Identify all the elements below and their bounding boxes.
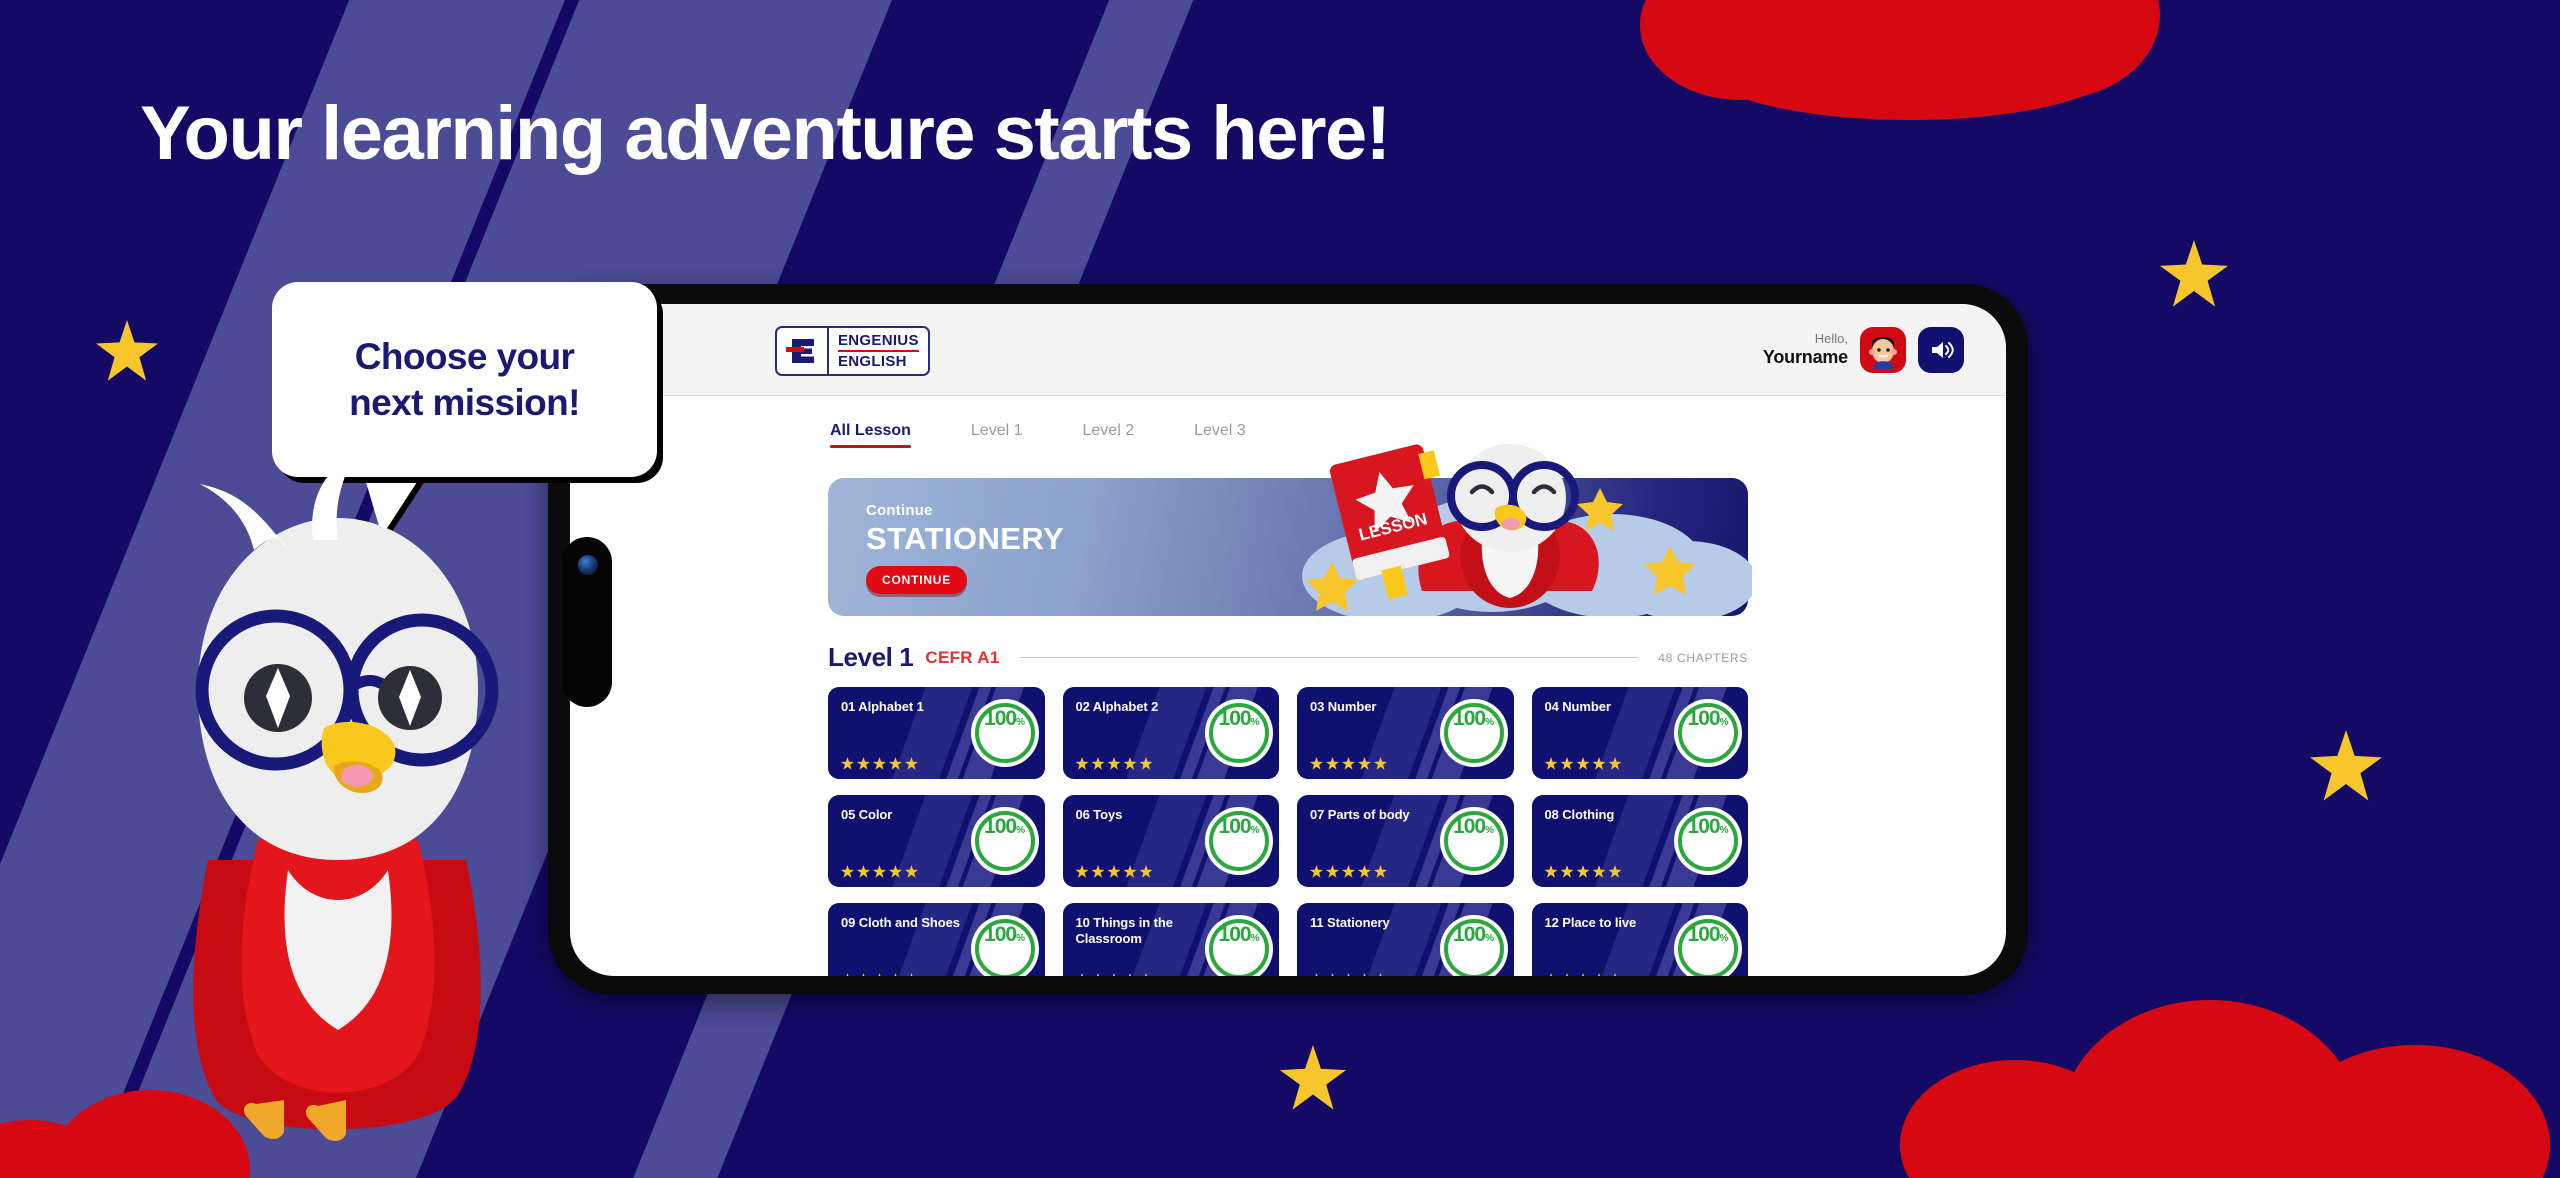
star-icon <box>1108 865 1121 878</box>
progress-percent-value: 100 <box>1219 923 1251 947</box>
percent-symbol: % <box>1016 825 1025 836</box>
chapter-card[interactable]: 05 Color100% <box>828 795 1045 887</box>
star-icon <box>857 865 870 878</box>
percent-symbol: % <box>1485 933 1494 944</box>
chapter-title: 05 Color <box>841 807 963 823</box>
chapter-star-rating <box>841 865 918 878</box>
chapter-progress-badge: 100% <box>1209 811 1269 871</box>
star-icon <box>1310 973 1323 976</box>
star-icon <box>1609 757 1622 770</box>
logo-divider <box>838 350 919 352</box>
header-user-area: Hello, Yourname <box>1763 327 1964 373</box>
star-icon <box>1326 757 1339 770</box>
tab-level-1[interactable]: Level 1 <box>971 422 1023 448</box>
level-label: Level 1 <box>828 642 913 673</box>
chapter-star-rating <box>1076 973 1153 976</box>
percent-symbol: % <box>1720 717 1729 728</box>
star-icon <box>1593 865 1606 878</box>
star-icon <box>1326 973 1339 976</box>
progress-percent-value: 100 <box>984 815 1016 839</box>
star-icon <box>1342 865 1355 878</box>
star-icon <box>1545 973 1558 976</box>
chapter-progress-badge: 100% <box>1444 811 1504 871</box>
star-icon <box>1593 973 1606 976</box>
banner-kicker: Continue <box>866 502 1064 519</box>
star-icon <box>1310 865 1323 878</box>
star-icon <box>857 757 870 770</box>
star-icon <box>1374 757 1387 770</box>
speech-bubble-text: Choose yournext mission! <box>349 334 580 424</box>
chapter-progress-badge: 100% <box>975 919 1035 976</box>
star-icon <box>1326 865 1339 878</box>
percent-symbol: % <box>1016 717 1025 728</box>
greeting-hello: Hello, <box>1763 332 1848 347</box>
continue-lesson-banner[interactable]: Continue STATIONERY CONTINUE <box>828 478 1748 616</box>
star-icon <box>873 865 886 878</box>
chapter-star-rating <box>1076 757 1153 770</box>
star-icon <box>1577 865 1590 878</box>
owl-mascot-icon <box>138 440 538 1150</box>
star-decoration <box>96 320 158 382</box>
chapter-card[interactable]: 04 Number100% <box>1532 687 1749 779</box>
star-icon <box>905 973 918 976</box>
divider-line <box>1020 657 1639 658</box>
progress-percent-value: 100 <box>1688 707 1720 731</box>
progress-percent-value: 100 <box>1219 707 1251 731</box>
chapter-card[interactable]: 03 Number100% <box>1297 687 1514 779</box>
chapter-progress-badge: 100% <box>975 703 1035 763</box>
star-icon <box>1140 973 1153 976</box>
percent-symbol: % <box>1485 825 1494 836</box>
star-icon <box>1342 757 1355 770</box>
star-decoration <box>2310 730 2382 802</box>
chapter-progress-badge: 100% <box>1444 703 1504 763</box>
chapter-card[interactable]: 01 Alphabet 1100% <box>828 687 1045 779</box>
chapter-progress-badge: 100% <box>1678 919 1738 976</box>
chapter-star-rating <box>1545 757 1622 770</box>
app-logo-wordmark: ENGENIUS ENGLISH <box>829 328 928 374</box>
percent-symbol: % <box>1251 825 1260 836</box>
banner-lesson-title: STATIONERY <box>866 521 1064 557</box>
progress-percent-value: 100 <box>1688 815 1720 839</box>
progress-percent-value: 100 <box>984 707 1016 731</box>
progress-percent-value: 100 <box>1219 815 1251 839</box>
star-icon <box>1358 865 1371 878</box>
chapter-title: 11 Stationery <box>1310 915 1432 931</box>
chapter-title: 04 Number <box>1545 699 1667 715</box>
greeting-block: Hello, Yourname <box>1763 332 1848 368</box>
banner-copy: Continue STATIONERY CONTINUE <box>866 502 1064 594</box>
star-icon <box>1374 973 1387 976</box>
progress-percent-value: 100 <box>1453 707 1485 731</box>
star-icon <box>1593 757 1606 770</box>
star-icon <box>1140 865 1153 878</box>
chapter-progress-badge: 100% <box>1444 919 1504 976</box>
phone-camera-island <box>562 537 612 707</box>
greeting-username: Yourname <box>1763 347 1848 368</box>
logo-line-2: ENGLISH <box>838 353 919 370</box>
chapter-star-rating <box>841 757 918 770</box>
star-icon <box>1577 973 1590 976</box>
star-icon <box>1609 865 1622 878</box>
logo-line-1: ENGENIUS <box>838 332 919 349</box>
progress-percent-value: 100 <box>1453 923 1485 947</box>
star-decoration <box>1280 1045 1346 1111</box>
star-icon <box>889 973 902 976</box>
phone-device-frame: ENGENIUS ENGLISH Hello, Yourname <box>548 284 2028 994</box>
chapter-star-rating <box>1310 865 1387 878</box>
page-title: Your learning adventure starts here! <box>140 90 1390 177</box>
chapter-card[interactable]: 02 Alphabet 2100% <box>1063 687 1280 779</box>
percent-symbol: % <box>1016 933 1025 944</box>
continue-button[interactable]: CONTINUE <box>866 566 967 594</box>
cefr-badge: CEFR A1 <box>925 648 999 668</box>
progress-percent-value: 100 <box>984 923 1016 947</box>
star-icon <box>1342 973 1355 976</box>
app-logo: ENGENIUS ENGLISH <box>775 326 930 376</box>
chapter-star-rating <box>1545 865 1622 878</box>
chapter-progress-badge: 100% <box>1209 919 1269 976</box>
star-icon <box>1358 973 1371 976</box>
star-icon <box>1561 757 1574 770</box>
star-icon <box>857 973 870 976</box>
star-icon <box>1076 757 1089 770</box>
star-icon <box>1092 973 1105 976</box>
chapter-title: 09 Cloth and Shoes <box>841 915 963 931</box>
percent-symbol: % <box>1720 825 1729 836</box>
star-icon <box>1577 757 1590 770</box>
percent-symbol: % <box>1720 933 1729 944</box>
chapter-title: 12 Place to live <box>1545 915 1667 931</box>
star-icon <box>1124 757 1137 770</box>
star-icon <box>841 973 854 976</box>
progress-percent-value: 100 <box>1453 815 1485 839</box>
star-icon <box>841 865 854 878</box>
star-icon <box>1561 973 1574 976</box>
chapter-title: 08 Clothing <box>1545 807 1667 823</box>
chapter-title: 03 Number <box>1310 699 1432 715</box>
star-icon <box>841 757 854 770</box>
phone-screen: ENGENIUS ENGLISH Hello, Yourname <box>570 304 2006 976</box>
star-icon <box>1076 973 1089 976</box>
chapter-title: 07 Parts of body <box>1310 807 1432 823</box>
star-icon <box>1108 973 1121 976</box>
phone-camera-icon <box>578 555 598 575</box>
chapters-count: 48 CHAPTERS <box>1658 651 1748 665</box>
star-icon <box>873 757 886 770</box>
star-icon <box>1358 757 1371 770</box>
percent-symbol: % <box>1485 717 1494 728</box>
star-icon <box>1108 757 1121 770</box>
star-icon <box>1092 865 1105 878</box>
tab-all-lesson[interactable]: All Lesson <box>830 422 911 448</box>
tab-level-2[interactable]: Level 2 <box>1083 422 1135 448</box>
chapter-progress-badge: 100% <box>975 811 1035 871</box>
chapter-title: 10 Things in the Classroom <box>1076 915 1198 948</box>
progress-percent-value: 100 <box>1688 923 1720 947</box>
star-icon <box>1076 865 1089 878</box>
star-icon <box>905 757 918 770</box>
chapter-star-rating <box>1310 973 1387 976</box>
chapter-grid: 01 Alphabet 1100%02 Alphabet 2100%03 Num… <box>828 687 1748 976</box>
chapter-star-rating <box>1310 757 1387 770</box>
chapter-card[interactable]: 12 Place to live100% <box>1532 903 1749 976</box>
star-icon <box>1124 973 1137 976</box>
owl-superhero-with-lesson-book-icon: LESSON <box>1282 426 1752 616</box>
chapter-card[interactable]: 09 Cloth and Shoes100% <box>828 903 1045 976</box>
chapter-progress-badge: 100% <box>1678 703 1738 763</box>
chapter-star-rating <box>841 973 918 976</box>
star-icon <box>1609 973 1622 976</box>
star-icon <box>1092 757 1105 770</box>
star-icon <box>1140 757 1153 770</box>
level-section-header: Level 1 CEFR A1 48 CHAPTERS <box>828 642 1748 673</box>
star-icon <box>1124 865 1137 878</box>
star-icon <box>1545 757 1558 770</box>
star-icon <box>889 865 902 878</box>
chapter-star-rating <box>1545 973 1622 976</box>
star-icon <box>1545 865 1558 878</box>
star-icon <box>1374 865 1387 878</box>
star-decoration <box>2160 240 2228 308</box>
chapter-card[interactable]: 11 Stationery100% <box>1297 903 1514 976</box>
speaker-icon[interactable] <box>1918 327 1964 373</box>
chapter-title: 06 Toys <box>1076 807 1198 823</box>
star-icon <box>873 973 886 976</box>
chapter-progress-badge: 100% <box>1209 703 1269 763</box>
app-header: ENGENIUS ENGLISH Hello, Yourname <box>570 304 2006 396</box>
chapter-progress-badge: 100% <box>1678 811 1738 871</box>
avatar[interactable] <box>1860 327 1906 373</box>
chapter-card[interactable]: 06 Toys100% <box>1063 795 1280 887</box>
star-icon <box>1310 757 1323 770</box>
star-icon <box>905 865 918 878</box>
chapter-card[interactable]: 07 Parts of body100% <box>1297 795 1514 887</box>
chapter-star-rating <box>1076 865 1153 878</box>
percent-symbol: % <box>1251 933 1260 944</box>
chapter-title: 01 Alphabet 1 <box>841 699 963 715</box>
percent-symbol: % <box>1251 717 1260 728</box>
tab-level-3[interactable]: Level 3 <box>1194 422 1246 448</box>
engenius-e-mark-icon <box>777 328 829 374</box>
star-icon <box>1561 865 1574 878</box>
chapter-title: 02 Alphabet 2 <box>1076 699 1198 715</box>
star-icon <box>889 757 902 770</box>
chapter-card[interactable]: 10 Things in the Classroom100% <box>1063 903 1280 976</box>
chapter-card[interactable]: 08 Clothing100% <box>1532 795 1749 887</box>
